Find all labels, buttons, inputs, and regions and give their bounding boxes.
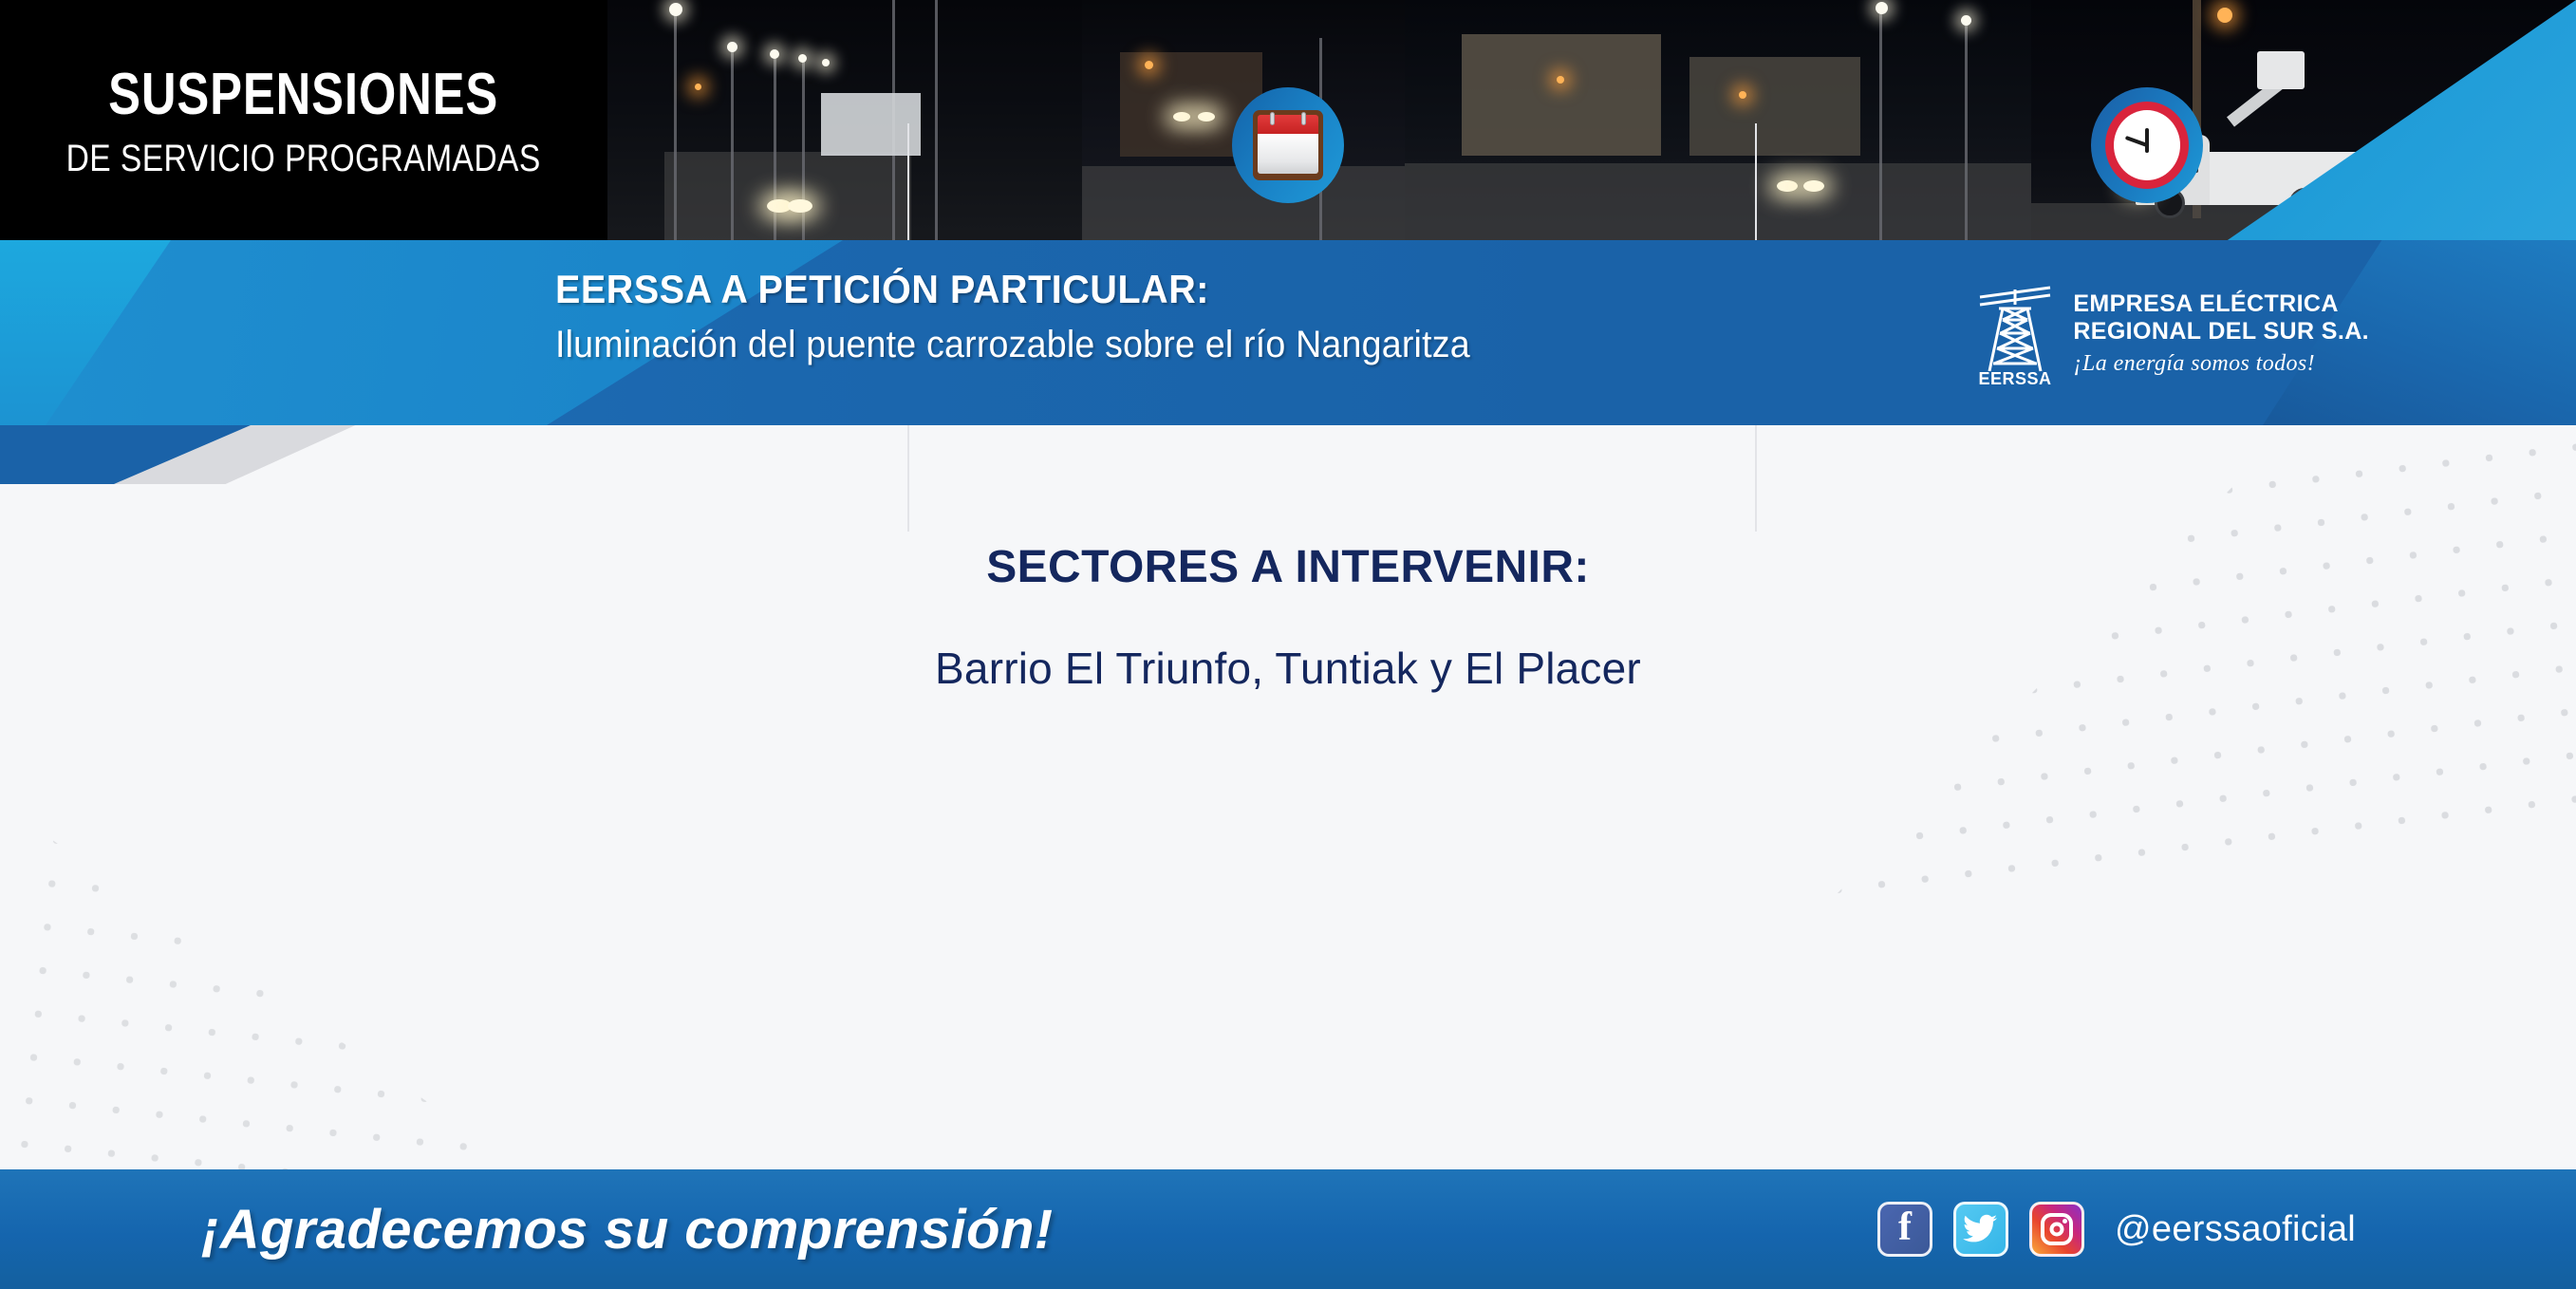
logo-line-1: EMPRESA ELÉCTRICA xyxy=(2073,290,2369,319)
instagram-icon[interactable] xyxy=(2029,1202,2084,1257)
sectors-title: SECTORES A INTERVENIR: xyxy=(0,541,2576,593)
banner-heading: EERSSA A PETICIÓN PARTICULAR: xyxy=(555,267,1470,312)
logo-slogan: ¡La energía somos todos! xyxy=(2073,351,2369,377)
facebook-icon[interactable]: f xyxy=(1877,1202,1932,1257)
suspension-notice-poster: SUSPENSIONES DE SERVICIO PROGRAMADAS EER… xyxy=(0,0,2576,1289)
facebook-glyph: f xyxy=(1898,1207,1912,1247)
logo-line-2: REGIONAL DEL SUR S.A. xyxy=(2073,318,2369,346)
body-background xyxy=(0,425,2576,1169)
poster-title-block: SUSPENSIONES DE SERVICIO PROGRAMADAS xyxy=(0,0,607,245)
twitter-icon[interactable] xyxy=(1953,1202,2008,1257)
sectors-section: SECTORES A INTERVENIR: Barrio El Triunfo… xyxy=(0,541,2576,694)
banner-text-group: EERSSA A PETICIÓN PARTICULAR: Iluminació… xyxy=(555,267,1528,367)
eerssa-logo: EERSSA EMPRESA ELÉCTRICA REGIONAL DEL SU… xyxy=(1974,276,2369,390)
sectors-list: Barrio El Triunfo, Tuntiak y El Placer xyxy=(0,643,2576,694)
logo-text-group: EMPRESA ELÉCTRICA REGIONAL DEL SUR S.A. … xyxy=(2073,290,2369,377)
clock-icon xyxy=(2091,87,2203,203)
svg-text:EERSSA: EERSSA xyxy=(1979,369,2052,388)
social-links: f @eerssaoficial xyxy=(1877,1202,2356,1257)
banner-subheading: Iluminación del puente carrozable sobre … xyxy=(555,322,1470,367)
social-handle[interactable]: @eerssaoficial xyxy=(2115,1209,2356,1250)
footer-message: ¡Agradecemos su comprensión! xyxy=(201,1198,1054,1261)
page-subtitle: DE SERVICIO PROGRAMADAS xyxy=(66,138,541,179)
announcement-banner: EERSSA A PETICIÓN PARTICULAR: Iluminació… xyxy=(0,240,2576,425)
transmission-tower-icon: EERSSA xyxy=(1974,276,2056,390)
calendar-icon xyxy=(1232,87,1344,203)
page-title: SUSPENSIONES xyxy=(108,65,498,124)
footer-bar: ¡Agradecemos su comprensión! f @eerssaof… xyxy=(0,1169,2576,1289)
